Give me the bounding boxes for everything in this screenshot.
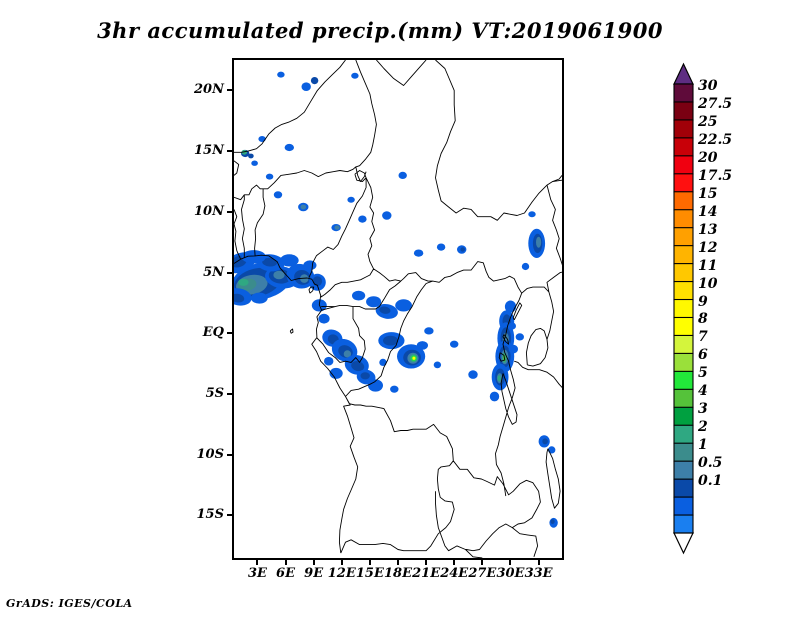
y-axis-tick: [227, 211, 233, 213]
colorbar-tick-label: 11: [698, 258, 717, 274]
x-axis-tick: [369, 559, 371, 565]
x-axis-tick-label: 33E: [523, 566, 555, 581]
x-axis-tick: [481, 559, 483, 565]
y-axis-tick: [227, 454, 233, 456]
y-axis-tick: [227, 514, 233, 516]
colorbar-tick-label: 15: [698, 186, 717, 202]
y-axis-tick: [227, 89, 233, 91]
colorbar-tick-label: 7: [698, 329, 708, 345]
y-axis-tick-label: 15S: [180, 507, 224, 522]
y-axis-tick: [227, 272, 233, 274]
x-axis-tick: [397, 559, 399, 565]
x-axis-tick: [313, 559, 315, 565]
colorbar-tick-label: 10: [698, 276, 717, 292]
plot-title: 3hr accumulated precip.(mm) VT:201906190…: [0, 18, 760, 43]
colorbar-tick-label: 2: [698, 419, 708, 435]
colorbar-tick-label: 5: [698, 365, 708, 381]
y-axis-tick-label: 20N: [180, 82, 224, 97]
colorbar-tick-label: 6: [698, 347, 708, 363]
colorbar-tick-label: 4: [698, 383, 708, 399]
x-axis-tick: [285, 559, 287, 565]
y-axis-tick-label: 5N: [180, 265, 224, 280]
colorbar-tick-label: 20: [698, 150, 717, 166]
colorbar-tick-label: 0.1: [698, 473, 722, 489]
colorbar: 3027.52522.52017.51514131211109876543210…: [668, 62, 796, 567]
colorbar-tick-label: 27.5: [698, 96, 732, 112]
x-axis-tick: [425, 559, 427, 565]
colorbar-tick-label: 12: [698, 240, 717, 256]
y-axis-tick-label: EQ: [180, 325, 224, 340]
y-axis-tick: [227, 393, 233, 395]
colorbar-tick-label: 0.5: [698, 455, 722, 471]
colorbar-tick-label: 30: [698, 78, 717, 94]
colorbar-tick-label: 13: [698, 222, 717, 238]
y-axis-tick: [227, 332, 233, 334]
y-axis-tick: [227, 150, 233, 152]
x-axis-tick: [538, 559, 540, 565]
colorbar-tick-label: 1: [698, 437, 708, 453]
y-axis-tick-label: 10N: [180, 204, 224, 219]
y-axis-tick-label: 5S: [180, 386, 224, 401]
precipitation-field: [234, 72, 558, 528]
x-axis-tick: [256, 559, 258, 565]
colorbar-tick-label: 8: [698, 311, 708, 327]
y-axis-tick-label: 15N: [180, 143, 224, 158]
precipitation-map: [234, 60, 562, 558]
colorbar-tick-label: 22.5: [698, 132, 732, 148]
x-axis-tick: [509, 559, 511, 565]
colorbar-tick-label: 9: [698, 294, 708, 310]
colorbar-tick-label: 14: [698, 204, 717, 220]
grads-attribution: GrADS: IGES/COLA: [6, 597, 133, 610]
colorbar-tick-label: 3: [698, 401, 708, 417]
colorbar-tick-label: 25: [698, 114, 717, 130]
x-axis-tick: [341, 559, 343, 565]
plot-frame: [232, 58, 564, 560]
x-axis-tick: [453, 559, 455, 565]
y-axis-tick-label: 10S: [180, 447, 224, 462]
map-plot-area: [232, 58, 564, 560]
colorbar-tick-label: 17.5: [698, 168, 732, 184]
